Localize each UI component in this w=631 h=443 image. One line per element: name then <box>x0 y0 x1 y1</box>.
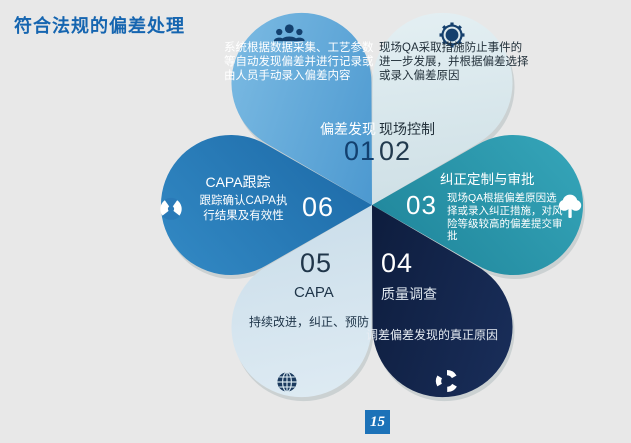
petal-01-body: 系统根据数据采集、工艺参数等自动发现偏差并进行记录或由人员手动录入偏差内容 <box>224 41 376 83</box>
petal-03-number: 03 <box>406 190 446 221</box>
petal-04-header: 质量调查 <box>381 284 491 304</box>
globe-icon <box>277 372 296 391</box>
page-number-badge: 15 <box>365 410 390 434</box>
petal-06-number: 06 <box>302 192 352 223</box>
petal-04-body: 调差偏差发现的真正原因 <box>366 328 532 343</box>
petal-06-body: 跟踪确认CAPA执行结果及有效性 <box>196 194 291 223</box>
petal-02-body: 现场QA采取措施防止事件的进一步发展，并根据偏差选择或录入偏差原因 <box>379 41 533 83</box>
petal-06-header: CAPA跟踪 <box>173 172 303 192</box>
petal-02-number: 02 <box>379 136 533 167</box>
slide-canvas: 符合法规的偏差处理 <box>0 0 631 443</box>
petal-04-number: 04 <box>381 248 441 279</box>
petal-05-body: 持续改进，纠正、预防 <box>249 315 369 331</box>
petal-05-number: 05 <box>300 248 360 279</box>
petal-03-body: 现场QA根据偏差原因选择或录入纠正措施，对风险等级较高的偏差提交审批 <box>447 192 563 243</box>
petal-03-header: 纠正定制与审批 <box>440 168 600 188</box>
petal-01-number: 01 <box>224 136 376 167</box>
petal-05-header: CAPA <box>294 284 364 301</box>
